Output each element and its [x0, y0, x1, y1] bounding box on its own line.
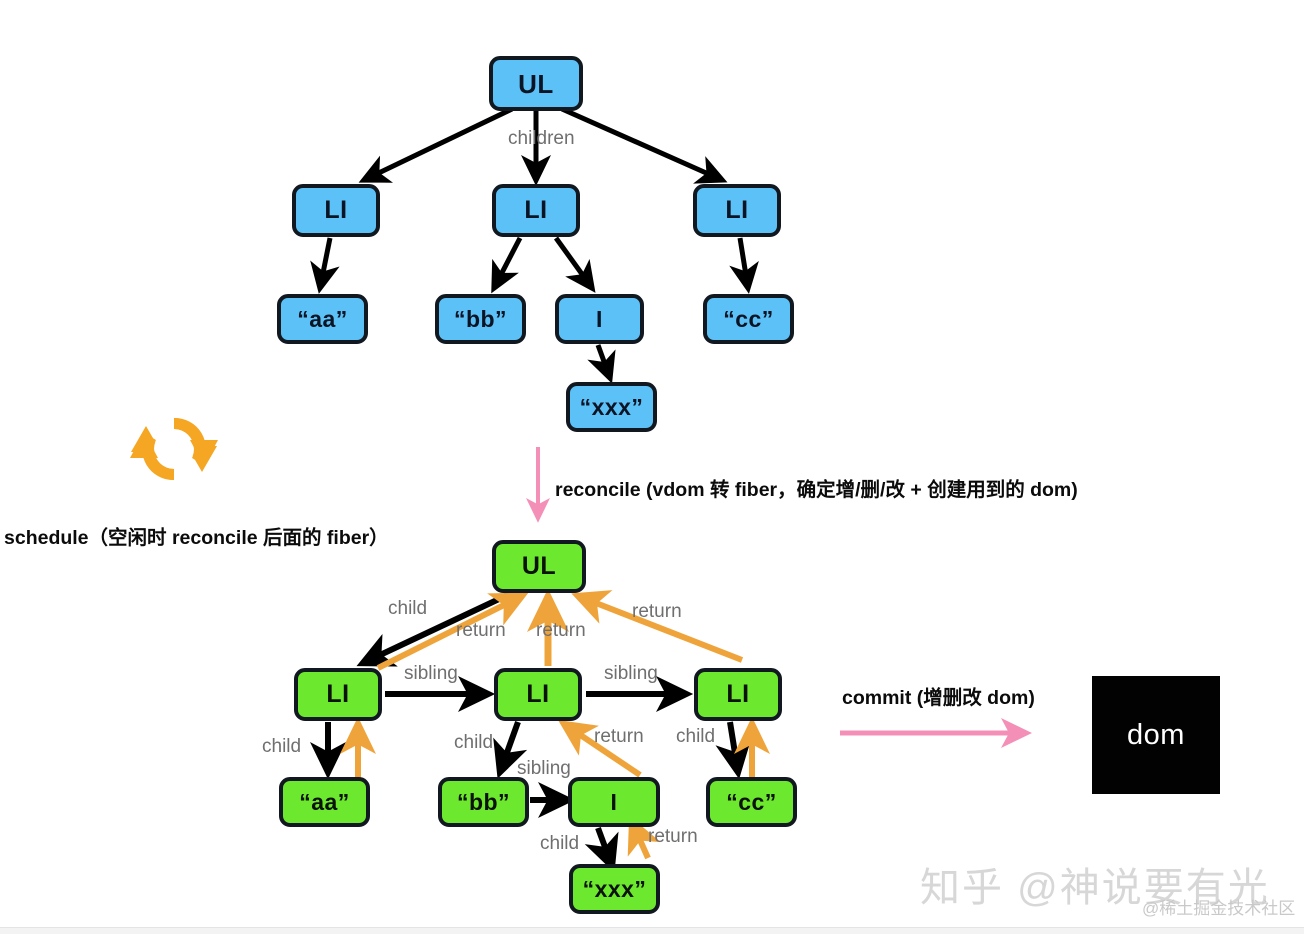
- return-li1-ul-text: return: [456, 620, 506, 641]
- caption-schedule: schedule（空闲时 reconcile 后面的 fiber）: [4, 521, 389, 550]
- fiber-node-li-3-label: LI: [726, 682, 749, 707]
- vdom-node-aa[interactable]: “aa”: [277, 294, 368, 344]
- fiber-edge-child-li3-cc: [730, 722, 738, 772]
- vdom-node-li-3[interactable]: LI: [693, 184, 781, 237]
- vdom-edge-li2-i: [556, 238, 592, 288]
- vdom-edge-ul-li3: [562, 109, 722, 180]
- fiber-edge-label-return-xxx-i: return: [648, 826, 698, 848]
- refresh-loop-icon-svg: [124, 406, 224, 492]
- vdom-edge-label-children: children: [508, 128, 575, 150]
- footer-divider: [0, 927, 1304, 934]
- fiber-edge-label-sibling-li2-li3: sibling: [604, 663, 658, 685]
- vdom-node-li-3-label: LI: [725, 198, 748, 223]
- caption-reconcile-text: reconcile (vdom 转 fiber，确定增/删/改 + 创建用到的 …: [555, 479, 1078, 501]
- fiber-node-li-1-label: LI: [326, 682, 349, 707]
- diagram-canvas: UL LI LI LI “aa” “bb” I “cc” “xxx” child…: [0, 0, 1304, 934]
- fiber-node-ul[interactable]: UL: [492, 540, 586, 593]
- fiber-node-li-2-label: LI: [526, 682, 549, 707]
- fiber-edge-child-i-xxx: [598, 828, 612, 866]
- vdom-node-xxx-label: “xxx”: [580, 396, 644, 419]
- return-i-li2-text: return: [594, 726, 644, 747]
- vdom-node-aa-label: “aa”: [297, 308, 348, 331]
- fiber-node-ul-label: UL: [522, 554, 556, 579]
- vdom-node-li-2[interactable]: LI: [492, 184, 580, 237]
- vdom-node-ul[interactable]: UL: [489, 56, 583, 111]
- fiber-node-cc[interactable]: “cc”: [706, 777, 797, 827]
- vdom-node-bb[interactable]: “bb”: [435, 294, 526, 344]
- vdom-node-i[interactable]: I: [555, 294, 644, 344]
- vdom-node-i-label: I: [596, 308, 603, 331]
- vdom-edge-i-xxx: [598, 345, 610, 378]
- child-ul-li1-text: child: [388, 598, 427, 619]
- vdom-node-li-1-label: LI: [324, 198, 347, 223]
- return-li2-ul-text: return: [536, 620, 586, 641]
- caption-reconcile: reconcile (vdom 转 fiber，确定增/删/改 + 创建用到的 …: [555, 473, 1078, 502]
- vdom-node-cc-label: “cc”: [723, 308, 774, 331]
- fiber-edge-label-return-li2-ul: return: [536, 620, 586, 642]
- child-i-xxx-text: child: [540, 833, 579, 854]
- fiber-edge-label-return-li3-ul: return: [632, 601, 682, 623]
- fiber-edge-return-xxx-i: [632, 822, 648, 858]
- sibling-li1-li2-text: sibling: [404, 663, 458, 684]
- fiber-node-li-2[interactable]: LI: [494, 668, 582, 721]
- vdom-node-xxx[interactable]: “xxx”: [566, 382, 657, 432]
- watermark-sub-text: @稀土掘金技术社区: [1142, 899, 1295, 918]
- child-li3-cc-text: child: [676, 726, 715, 747]
- refresh-loop-icon: [124, 406, 224, 492]
- fiber-node-aa-label: “aa”: [299, 791, 350, 814]
- watermark-sub: @稀土掘金技术社区: [1142, 894, 1295, 919]
- sibling-li2-li3-text: sibling: [604, 663, 658, 684]
- child-li1-aa-text: child: [262, 736, 301, 757]
- caption-commit-text: commit (增删改 dom): [842, 687, 1035, 709]
- vdom-node-cc[interactable]: “cc”: [703, 294, 794, 344]
- fiber-edge-label-sibling-li1-li2: sibling: [404, 663, 458, 685]
- fiber-edge-label-child-i-xxx: child: [540, 833, 579, 855]
- dom-box-label: dom: [1127, 719, 1185, 752]
- return-xxx-i-text: return: [648, 826, 698, 847]
- vdom-node-ul-label: UL: [518, 71, 554, 97]
- fiber-node-li-3[interactable]: LI: [694, 668, 782, 721]
- fiber-edge-label-return-li1-ul: return: [456, 620, 506, 642]
- fiber-node-xxx-label: “xxx”: [583, 878, 647, 901]
- child-li2-bb-text: child: [454, 732, 493, 753]
- fiber-edge-label-child-ul-li1: child: [388, 598, 427, 620]
- vdom-node-li-2-label: LI: [524, 198, 547, 223]
- fiber-node-cc-label: “cc”: [726, 791, 777, 814]
- children-label-text: children: [508, 128, 575, 149]
- fiber-node-bb-label: “bb”: [457, 791, 510, 814]
- fiber-node-xxx[interactable]: “xxx”: [569, 864, 660, 914]
- vdom-edge-ul-li1: [364, 109, 512, 180]
- fiber-edge-label-return-i-li2: return: [594, 726, 644, 748]
- fiber-edge-label-child-li2-bb: child: [454, 732, 493, 754]
- return-li3-ul-text: return: [632, 601, 682, 622]
- caption-schedule-text: schedule（空闲时 reconcile 后面的 fiber）: [4, 527, 389, 549]
- fiber-edge-child-li2-bb: [500, 722, 518, 772]
- vdom-node-li-1[interactable]: LI: [292, 184, 380, 237]
- dom-box[interactable]: dom: [1092, 676, 1220, 794]
- vdom-edge-li2-bb: [494, 238, 520, 288]
- sibling-bb-i-text: sibling: [517, 758, 571, 779]
- fiber-node-i[interactable]: I: [568, 777, 660, 827]
- vdom-edge-li3-cc: [740, 238, 748, 288]
- fiber-edge-label-child-li1-aa: child: [262, 736, 301, 758]
- fiber-edge-label-sibling-bb-i: sibling: [517, 758, 571, 780]
- vdom-node-bb-label: “bb”: [454, 308, 507, 331]
- fiber-node-bb[interactable]: “bb”: [438, 777, 529, 827]
- caption-commit: commit (增删改 dom): [842, 681, 1035, 710]
- fiber-node-aa[interactable]: “aa”: [279, 777, 370, 827]
- fiber-node-i-label: I: [611, 791, 618, 814]
- fiber-edge-label-child-li3-cc: child: [676, 726, 715, 748]
- vdom-edge-li1-aa: [320, 238, 330, 288]
- fiber-node-li-1[interactable]: LI: [294, 668, 382, 721]
